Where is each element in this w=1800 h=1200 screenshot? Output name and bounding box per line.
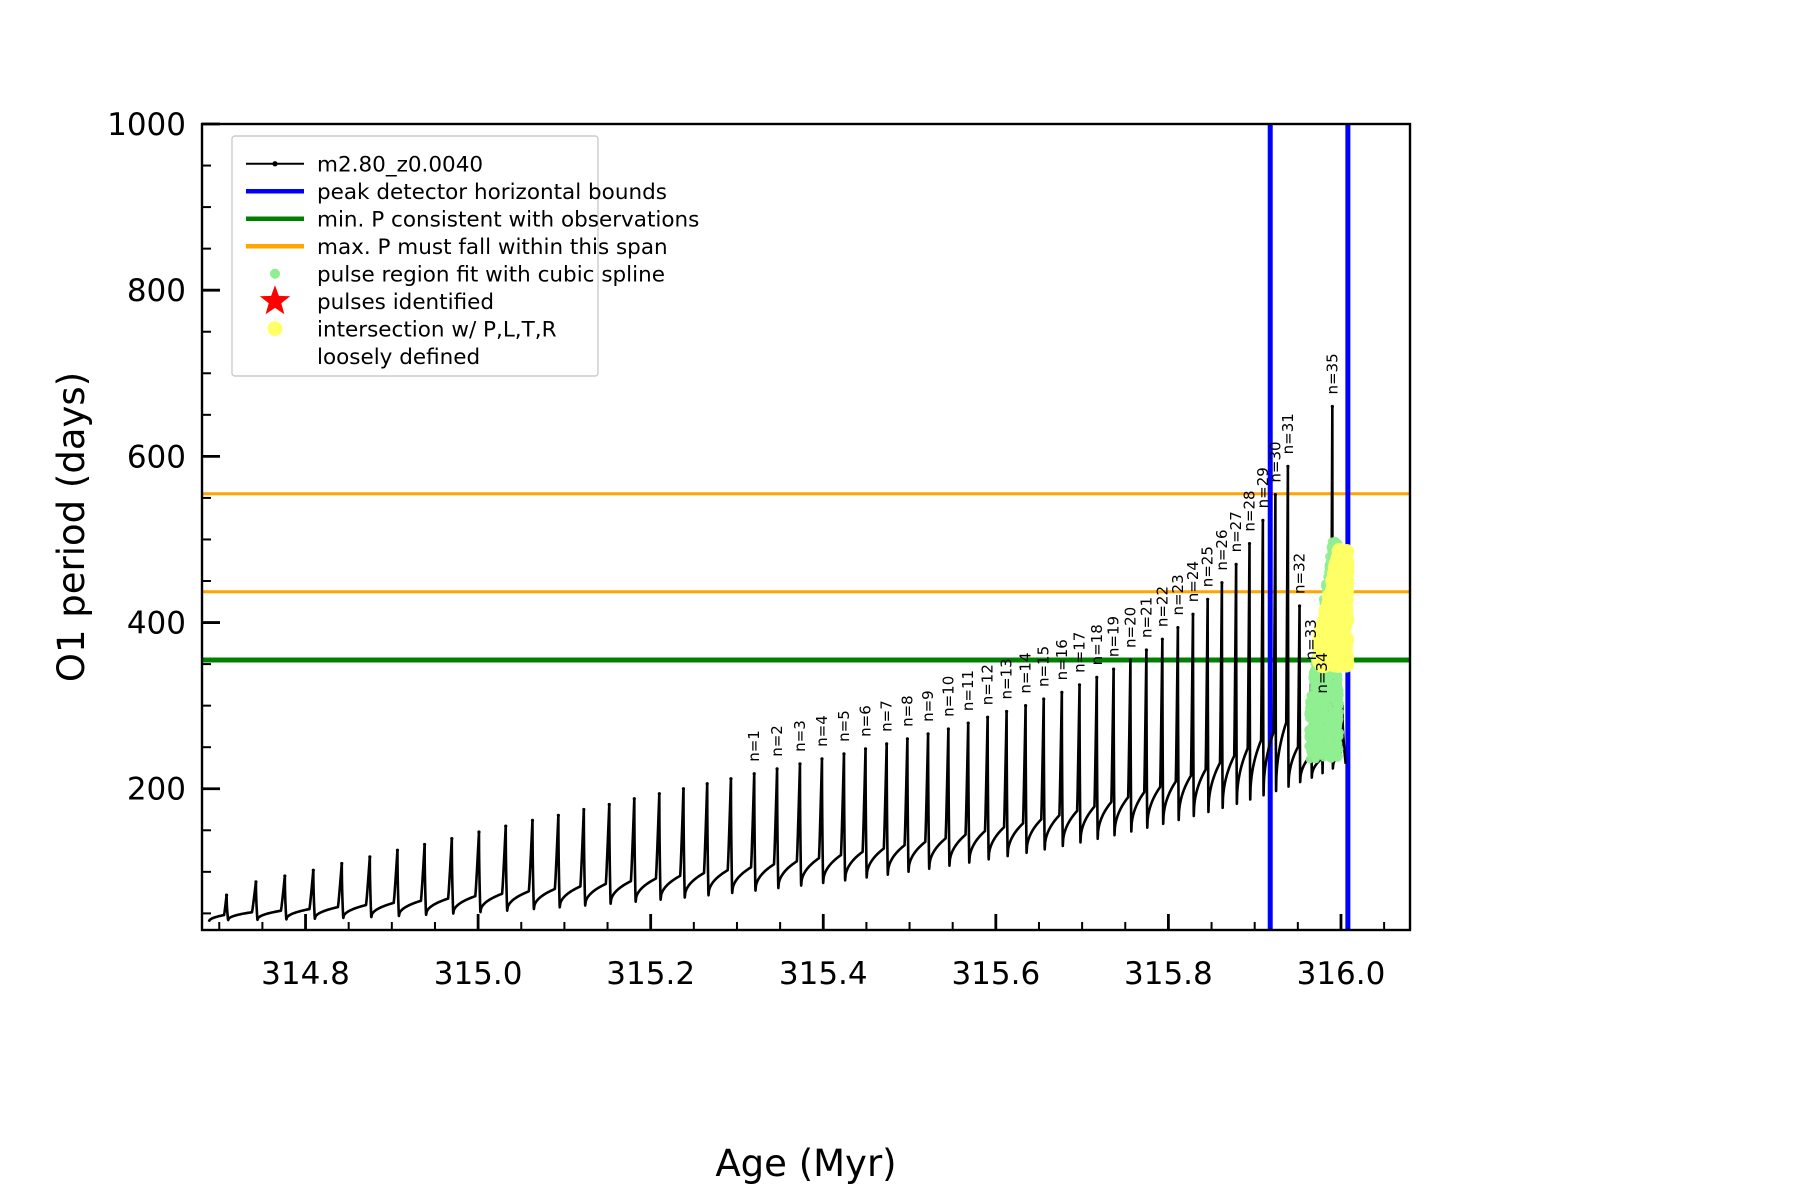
pulse-label-n15: n=15	[1035, 646, 1053, 687]
x-tick-label: 315.6	[951, 956, 1040, 992]
x-axis-label: Age (Myr)	[715, 1142, 896, 1185]
pulse-label-n6: n=6	[857, 705, 875, 737]
pulse-label-n11: n=11	[959, 670, 977, 711]
pulse-label-n14: n=14	[1017, 652, 1035, 693]
chart-figure: n=1n=2n=3n=4n=5n=6n=7n=8n=9n=10n=11n=12n…	[0, 0, 1800, 1200]
pulse-label-n16: n=16	[1053, 639, 1071, 680]
pulse-label-n1: n=1	[745, 730, 763, 762]
legend-label: intersection w/ P,L,T,R	[317, 317, 557, 342]
x-tick-label: 315.8	[1124, 956, 1213, 992]
pulse-label-n3: n=3	[791, 720, 809, 752]
pulse-label-n10: n=10	[939, 676, 957, 717]
y-tick-label: 1000	[107, 107, 186, 143]
legend-label: pulses identified	[317, 290, 494, 315]
legend-label: max. P must fall within this span	[317, 235, 668, 260]
y-tick-label: 800	[127, 273, 186, 309]
x-tick-label: 316.0	[1297, 956, 1386, 992]
legend-item-4: pulse region fit with cubic spline	[270, 262, 665, 287]
y-axis-label: O1 period (days)	[50, 372, 93, 682]
legend-label: m2.80_z0.0040	[317, 152, 483, 177]
pulse-label-n34: n=34	[1313, 652, 1331, 693]
pulse-label-n7: n=7	[878, 700, 896, 732]
legend-label-line2: loosely defined	[317, 345, 480, 370]
legend-label: peak detector horizontal bounds	[317, 180, 667, 205]
pulse-label-n13: n=13	[998, 658, 1016, 699]
pulse-label-n31: n=31	[1279, 413, 1297, 454]
pulse-label-n18: n=18	[1088, 624, 1106, 665]
x-tick-label: 315.2	[606, 956, 695, 992]
x-tick-label: 315.0	[434, 956, 523, 992]
chart-canvas: n=1n=2n=3n=4n=5n=6n=7n=8n=9n=10n=11n=12n…	[0, 0, 1800, 1200]
pulse-label-n12: n=12	[979, 664, 997, 705]
legend-label: pulse region fit with cubic spline	[317, 262, 665, 287]
pulse-label-n32: n=32	[1291, 553, 1309, 594]
pulse-label-n9: n=9	[919, 690, 937, 722]
x-tick-label: 314.8	[261, 956, 350, 992]
y-tick-label: 600	[127, 439, 186, 475]
y-tick-label: 200	[127, 772, 186, 808]
x-tick-label: 315.4	[779, 956, 868, 992]
pulse-label-n8: n=8	[898, 695, 916, 727]
pulse-label-n35: n=35	[1323, 353, 1341, 394]
pulse-label-n5: n=5	[835, 710, 853, 742]
legend-label: min. P consistent with observations	[317, 207, 699, 232]
y-tick-label: 400	[127, 606, 186, 642]
pulse-label-n17: n=17	[1071, 632, 1089, 673]
pulse-label-n19: n=19	[1105, 616, 1123, 657]
pulse-label-n2: n=2	[768, 725, 786, 757]
pulse-label-n4: n=4	[813, 715, 831, 747]
